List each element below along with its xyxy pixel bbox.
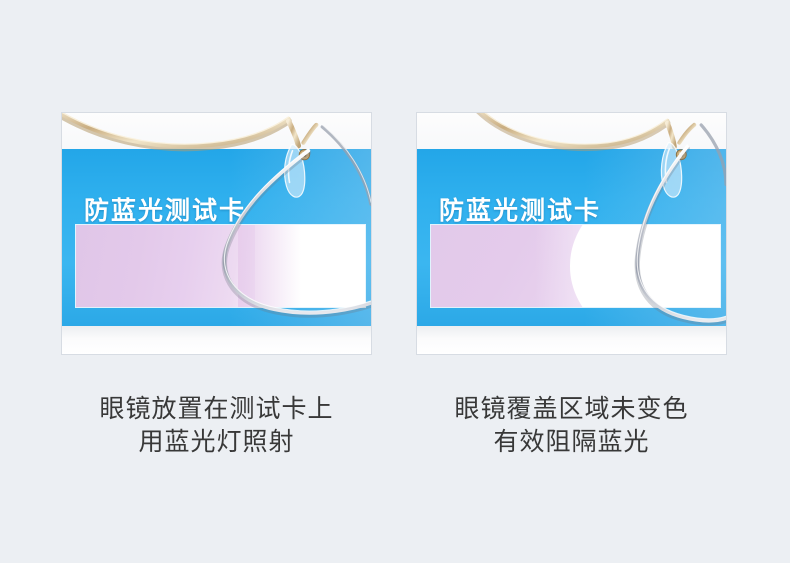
comparison-figure: 防蓝光测试卡 用蓝光发生器照射在下方白色方块中 蓝光越强，变色越深 xyxy=(0,0,790,563)
swatch-gradient-edge xyxy=(238,225,302,307)
caption-left-line-1: 眼镜放置在测试卡上 xyxy=(61,392,372,425)
reactive-swatch xyxy=(431,225,720,307)
desk-surface-bottom xyxy=(62,326,371,354)
card-title: 防蓝光测试卡 xyxy=(439,191,601,227)
card-title: 防蓝光测试卡 xyxy=(84,191,246,227)
photo-scene-left: 防蓝光测试卡 用蓝光发生器照射在下方白色方块中 蓝光越强，变色越深 xyxy=(62,113,371,354)
photo-panel-right: 防蓝光测试卡 用蓝光发生器照射在下方白色方块中 蓝光越强，变色越深 xyxy=(416,112,727,355)
caption-right-line-1: 眼镜覆盖区域未变色 xyxy=(416,392,727,425)
caption-left: 眼镜放置在测试卡上 用蓝光灯照射 xyxy=(61,392,372,458)
desk-surface-top xyxy=(62,113,371,151)
photo-panel-left: 防蓝光测试卡 用蓝光发生器照射在下方白色方块中 蓝光越强，变色越深 xyxy=(61,112,372,355)
caption-right-line-2: 有效阻隔蓝光 xyxy=(416,425,727,458)
desk-surface-bottom xyxy=(417,326,726,354)
photo-scene-right: 防蓝光测试卡 用蓝光发生器照射在下方白色方块中 蓝光越强，变色越深 xyxy=(417,113,726,354)
swatch-unchanged-lens-area xyxy=(570,225,720,307)
desk-surface-top xyxy=(417,113,726,151)
caption-left-line-2: 用蓝光灯照射 xyxy=(61,425,372,458)
swatch-purple-region xyxy=(76,225,255,307)
caption-right: 眼镜覆盖区域未变色 有效阻隔蓝光 xyxy=(416,392,727,458)
reactive-swatch xyxy=(76,225,365,307)
